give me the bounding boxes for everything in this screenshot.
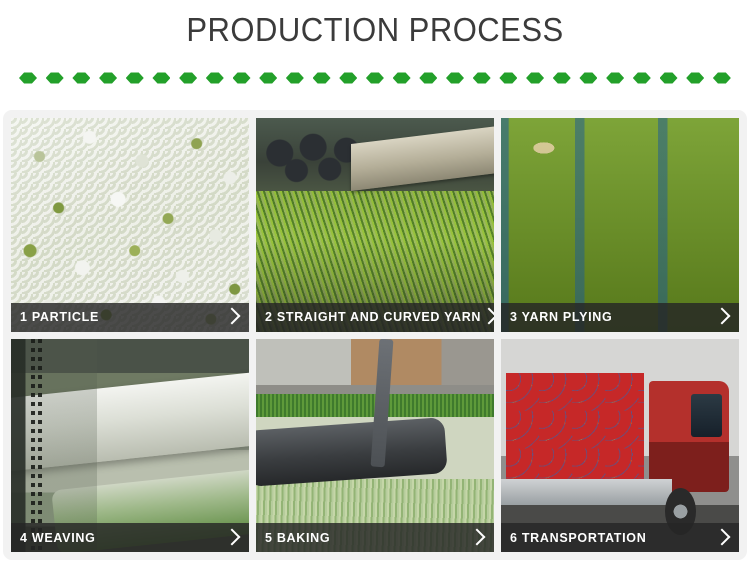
diamond-icon (419, 72, 437, 85)
diamond-icon (713, 72, 731, 85)
diamond-icon (633, 72, 651, 85)
step-photo-particle (11, 118, 249, 332)
diamond-icon (660, 72, 678, 85)
diamond-icon (526, 72, 544, 85)
diamond-icon (473, 72, 491, 85)
step-label-1: 1 PARTICLE (20, 310, 99, 324)
step-photo-transportation (501, 339, 739, 553)
step-label-3: 3 YARN PLYING (510, 310, 612, 324)
step-caption-2: 2 STRAIGHT AND CURVED YARN (256, 303, 494, 332)
diamond-icon (152, 72, 170, 85)
diamond-icon (686, 72, 704, 85)
chevron-right-icon[interactable] (481, 307, 494, 327)
process-step-card-6[interactable]: 6 TRANSPORTATION (501, 339, 739, 553)
chevron-right-icon[interactable] (224, 307, 240, 327)
diamond-icon (286, 72, 304, 85)
step-label-2: 2 STRAIGHT AND CURVED YARN (265, 310, 481, 324)
chevron-right-icon[interactable] (714, 307, 730, 327)
chevron-right-icon[interactable] (714, 528, 730, 548)
diamond-icon (99, 72, 117, 85)
step-label-4: 4 WEAVING (20, 531, 96, 545)
production-process-panel: 1 PARTICLE 2 STRAIGHT AND CURVED YARN 3 … (3, 110, 747, 560)
process-step-card-2[interactable]: 2 STRAIGHT AND CURVED YARN (256, 118, 494, 332)
diamond-icon (72, 72, 90, 85)
diamond-icon (259, 72, 277, 85)
decorative-divider (19, 67, 731, 89)
step-photo-baking (256, 339, 494, 553)
diamond-icon (553, 72, 571, 85)
step-label-6: 6 TRANSPORTATION (510, 531, 646, 545)
step-caption-3: 3 YARN PLYING (501, 303, 739, 332)
diamond-icon (126, 72, 144, 85)
chevron-right-icon[interactable] (224, 528, 240, 548)
page-header: PRODUCTION PROCESS (0, 0, 750, 89)
step-photo-straight-curved-yarn (256, 118, 494, 332)
diamond-icon (446, 72, 464, 85)
step-photo-weaving (11, 339, 249, 553)
step-caption-5: 5 BAKING (256, 523, 494, 552)
diamond-icon (179, 72, 197, 85)
diamond-icon (339, 72, 357, 85)
diamond-icon (579, 72, 597, 85)
diamond-icon (46, 72, 64, 85)
diamond-icon (393, 72, 411, 85)
page-title: PRODUCTION PROCESS (23, 11, 728, 49)
step-photo-yarn-plying (501, 118, 739, 332)
diamond-icon (499, 72, 517, 85)
step-caption-4: 4 WEAVING (11, 523, 249, 552)
process-step-card-5[interactable]: 5 BAKING (256, 339, 494, 553)
step-label-5: 5 BAKING (265, 531, 330, 545)
process-step-card-3[interactable]: 3 YARN PLYING (501, 118, 739, 332)
diamond-icon (206, 72, 224, 85)
process-step-card-4[interactable]: 4 WEAVING (11, 339, 249, 553)
diamond-icon (606, 72, 624, 85)
diamond-icon (366, 72, 384, 85)
diamond-icon (19, 72, 37, 85)
chevron-right-icon[interactable] (469, 528, 485, 548)
diamond-icon (313, 72, 331, 85)
process-step-grid: 1 PARTICLE 2 STRAIGHT AND CURVED YARN 3 … (11, 118, 739, 552)
diamond-icon (233, 72, 251, 85)
process-step-card-1[interactable]: 1 PARTICLE (11, 118, 249, 332)
step-caption-6: 6 TRANSPORTATION (501, 523, 739, 552)
step-caption-1: 1 PARTICLE (11, 303, 249, 332)
